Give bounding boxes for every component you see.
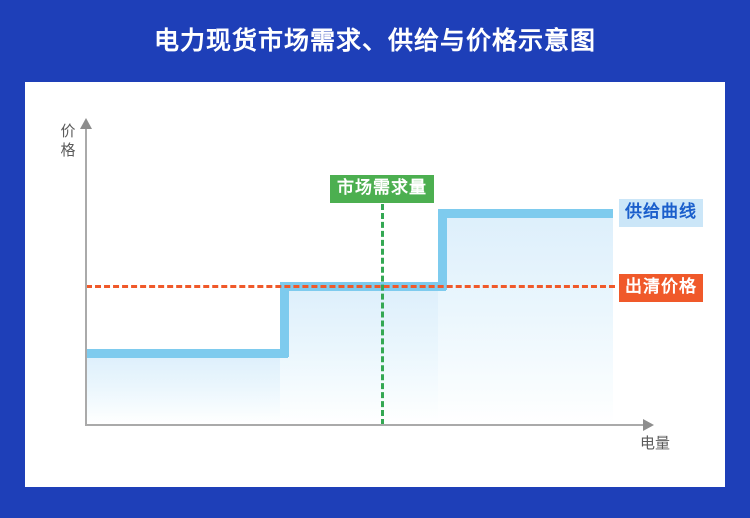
chart-plot-area: 价格 电量 市场需求量 供给曲线 出清价格 bbox=[25, 82, 725, 487]
x-axis-arrow-icon bbox=[643, 419, 654, 431]
market-demand-dashed-line bbox=[381, 204, 384, 425]
y-axis-line bbox=[85, 127, 87, 426]
supply-curve-fill-step-3 bbox=[438, 215, 613, 424]
supply-curve-fill-step-2 bbox=[280, 288, 446, 424]
chart-card: 价格 电量 市场需求量 供给曲线 出清价格 bbox=[25, 82, 725, 487]
market-demand-label: 市场需求量 bbox=[330, 175, 434, 203]
clearing-price-label: 出清价格 bbox=[619, 274, 703, 302]
supply-curve-segment-h3 bbox=[438, 209, 613, 218]
x-axis-label: 电量 bbox=[640, 432, 670, 453]
supply-curve-segment-v2 bbox=[438, 209, 447, 290]
supply-curve-label: 供给曲线 bbox=[619, 199, 703, 227]
supply-curve-segment-v1 bbox=[280, 282, 289, 357]
y-axis-arrow-icon bbox=[80, 118, 92, 129]
supply-curve-fill-step-1 bbox=[86, 355, 288, 424]
clearing-price-dashed-line bbox=[86, 285, 615, 288]
x-axis-line bbox=[85, 424, 645, 426]
supply-curve-segment-h1 bbox=[86, 349, 288, 358]
y-axis-label: 价格 bbox=[57, 122, 79, 160]
page-title: 电力现货市场需求、供给与价格示意图 bbox=[0, 24, 750, 58]
